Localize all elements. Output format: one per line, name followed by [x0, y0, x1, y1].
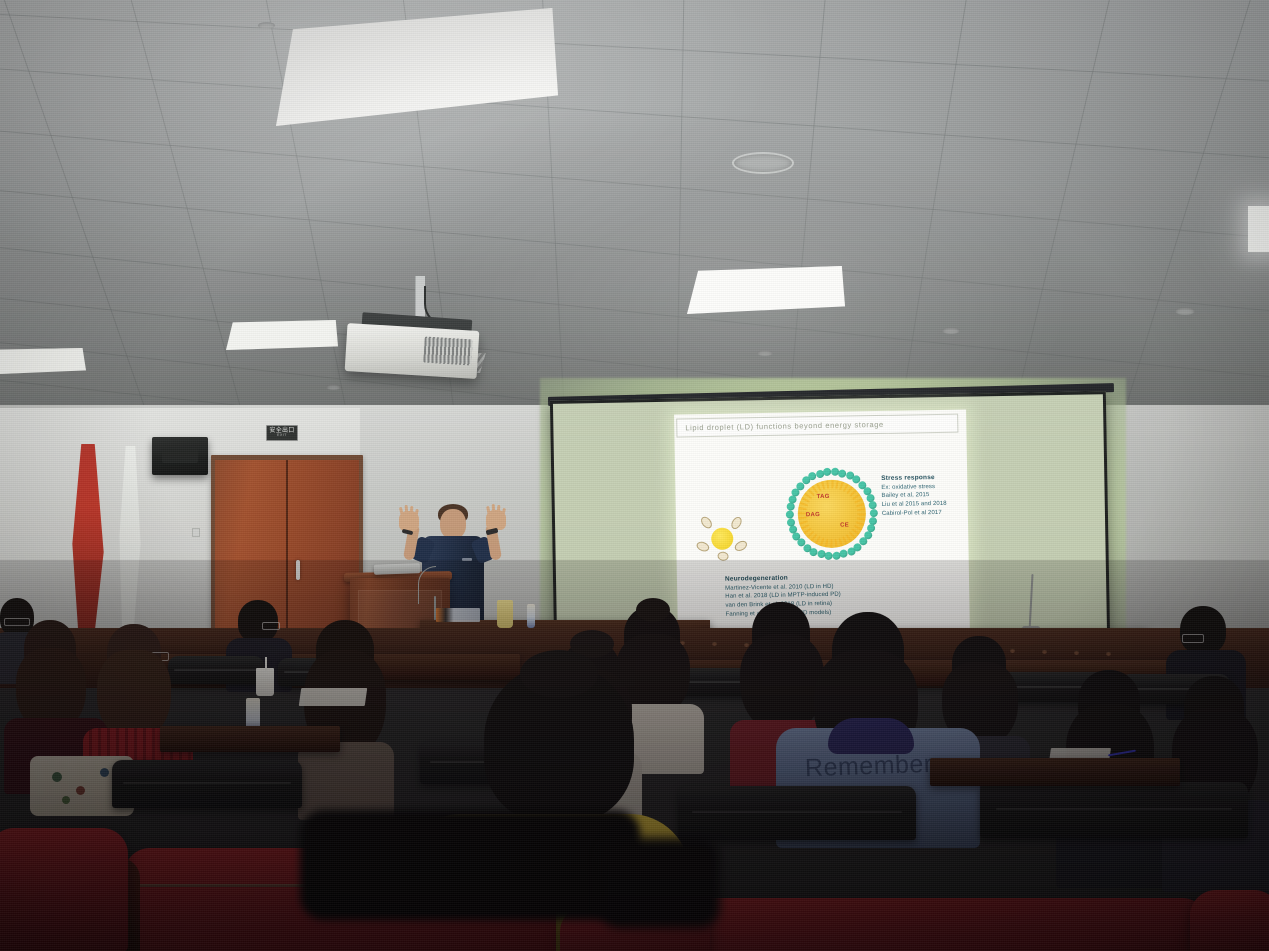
- audience-desk-row: [930, 758, 1180, 786]
- foreground-shadow: [600, 838, 720, 928]
- neurodegeneration-heading: Neurodegeneration: [725, 574, 841, 583]
- person-hair: [740, 634, 824, 734]
- wall-speaker: [152, 437, 208, 475]
- ld-label-ce: CE: [840, 523, 849, 529]
- ld-label-dag: DAG: [806, 512, 820, 518]
- phospholipid-dot: [825, 552, 833, 560]
- audience-desk-row: [160, 726, 340, 752]
- small-lipid-droplet: [711, 528, 733, 550]
- phospholipid-dot: [788, 495, 796, 503]
- lecture-hall-photo: 安全出口 EXIT Lipid droplet (LD) functions b…: [0, 0, 1269, 951]
- presenter-finger: [492, 504, 496, 515]
- desk-stud: [1074, 650, 1079, 655]
- person-head: [1180, 606, 1226, 654]
- presentation-slide: Lipid droplet (LD) functions beyond ener…: [674, 409, 970, 636]
- seat-back[interactable]: [678, 786, 916, 840]
- seat-back[interactable]: [112, 760, 302, 808]
- person-hair-bun: [636, 598, 670, 622]
- drink-straw: [265, 657, 267, 671]
- ld-label-tag: TAG: [816, 494, 829, 500]
- auditorium-seat[interactable]: [0, 828, 128, 951]
- eyeglasses: [262, 622, 280, 630]
- presenter-head: [440, 509, 466, 539]
- phospholipid-dot: [786, 510, 794, 518]
- ceiling-light-panel: [226, 320, 338, 350]
- desk-stud: [1106, 651, 1111, 656]
- slide-title: Lipid droplet (LD) functions beyond ener…: [685, 420, 884, 432]
- phospholipid-dot: [870, 509, 878, 517]
- auditorium-seat[interactable]: [1190, 890, 1269, 951]
- ceiling: [0, 0, 1269, 420]
- wall-outlet: [192, 528, 200, 537]
- desk-stud: [712, 641, 717, 646]
- ld-protein: [717, 551, 729, 561]
- stress-response-heading: Stress response: [881, 474, 946, 482]
- ld-protein: [695, 540, 710, 553]
- phospholipid-dot: [787, 518, 795, 526]
- exit-sign: 安全出口 EXIT: [266, 425, 298, 441]
- tan-cup: [497, 600, 513, 628]
- phospholipid-dot: [817, 550, 825, 558]
- stress-response-line: Cabirol-Pol et al 2017: [882, 508, 947, 518]
- desk-stud: [1042, 649, 1047, 654]
- phospholipid-dot: [823, 468, 831, 476]
- presenter-finger: [405, 505, 409, 516]
- phospholipid-dot: [840, 550, 848, 558]
- ceiling-light-panel: [0, 348, 86, 374]
- bag-pattern-dot: [52, 772, 62, 782]
- door-handle[interactable]: [296, 560, 300, 580]
- ceiling-light-panel: [687, 266, 845, 314]
- projector-vent: [423, 337, 472, 366]
- exit-sign-english: EXIT: [277, 434, 287, 438]
- denim-jacket-text: Remember: [805, 750, 934, 783]
- ld-protein: [729, 515, 743, 531]
- phospholipid-dot: [869, 501, 877, 509]
- person-hair-bun: [520, 650, 598, 698]
- person-body: [298, 742, 394, 820]
- bag-pattern-dot: [100, 768, 109, 777]
- auditorium-seat[interactable]: [688, 898, 1208, 951]
- eyeglasses: [1182, 634, 1204, 643]
- ceiling-light-panel: [1248, 206, 1269, 252]
- seat-back[interactable]: [168, 656, 264, 684]
- seat-back[interactable]: [980, 782, 1248, 838]
- water-bottle: [527, 604, 535, 628]
- eyeglasses: [4, 618, 30, 626]
- presenter-finger: [486, 506, 491, 516]
- ld-protein: [733, 539, 749, 553]
- laptop[interactable]: [374, 563, 420, 575]
- paper-sheet: [299, 688, 368, 706]
- door-center-split: [286, 460, 288, 655]
- bag-pattern-dot: [62, 796, 70, 804]
- shirt-logo: [462, 558, 472, 561]
- person-head: [238, 600, 278, 642]
- phospholipid-dot: [847, 547, 855, 555]
- phospholipid-dot: [786, 503, 794, 511]
- podium-items: [436, 608, 480, 622]
- bag-pattern-dot: [76, 786, 85, 795]
- hood-collar: [828, 718, 914, 754]
- stress-response-block: Stress response Ex: oxidative stress Bai…: [881, 474, 947, 518]
- drink-cup: [256, 668, 274, 696]
- ld-protein: [699, 515, 714, 531]
- slide-title-box: Lipid droplet (LD) functions beyond ener…: [676, 414, 958, 438]
- foreground-shadow: [300, 810, 640, 920]
- phospholipid-dot: [832, 551, 840, 559]
- desk-stud: [1010, 648, 1015, 653]
